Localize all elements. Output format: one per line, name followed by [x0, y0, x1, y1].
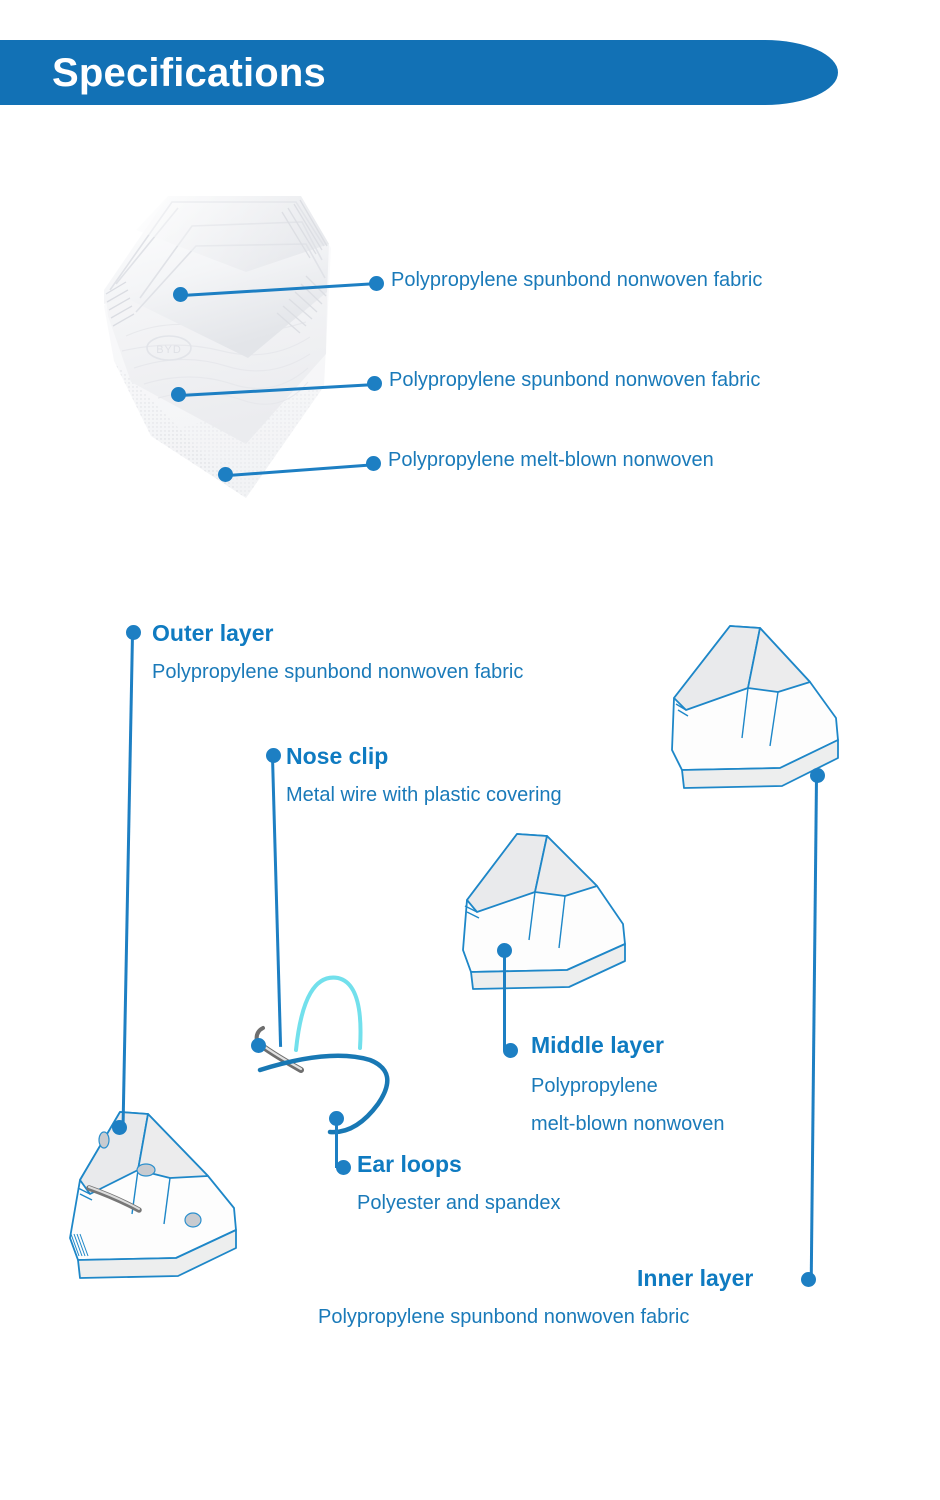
callout-outer-layer-title: Outer layer	[152, 620, 273, 647]
leader-line-ear-loops	[335, 1120, 338, 1168]
leader-dot-target-layer-2	[367, 376, 382, 391]
leader-line-middle-layer	[503, 952, 506, 1050]
specifications-page: Specifications	[0, 0, 940, 1500]
callout-outer-layer-desc: Polypropylene spunbond nonwoven fabric	[152, 661, 523, 684]
leader-dot-source-layer-3	[218, 467, 233, 482]
svg-text:BYD: BYD	[156, 344, 182, 356]
callout-nose-clip-title: Nose clip	[286, 743, 388, 770]
callout-ear-loops-title: Ear loops	[357, 1151, 462, 1178]
leader-line-outer-layer	[122, 634, 134, 1128]
callout-inner-layer-title: Inner layer	[637, 1265, 753, 1292]
callout-layer-3-text: Polypropylene melt-blown nonwoven	[388, 449, 714, 472]
folded-face-mask-photo: BYD	[96, 186, 396, 511]
leader-dot-nose-clip-bottom	[251, 1038, 266, 1053]
leader-line-inner-layer	[810, 777, 818, 1280]
leader-dot-middle-layer-bottom	[503, 1043, 518, 1058]
mask-outline-upper-right	[660, 618, 860, 793]
callout-inner-layer-desc: Polypropylene spunbond nonwoven fabric	[318, 1306, 689, 1329]
leader-line-nose-clip	[271, 757, 282, 1047]
leader-dot-outer-layer-top	[126, 625, 141, 640]
callout-middle-layer-desc-2: melt-blown nonwoven	[531, 1113, 724, 1136]
leader-dot-source-layer-1	[173, 287, 188, 302]
callout-nose-clip-desc: Metal wire with plastic covering	[286, 784, 562, 807]
leader-dot-target-layer-1	[369, 276, 384, 291]
callout-layer-2-text: Polypropylene spunbond nonwoven fabric	[389, 369, 760, 392]
mask-outline-center	[455, 828, 645, 998]
page-title: Specifications	[52, 44, 326, 102]
callout-middle-layer-title: Middle layer	[531, 1032, 664, 1059]
callout-layer-1-text: Polypropylene spunbond nonwoven fabric	[391, 269, 762, 292]
leader-dot-target-layer-3	[366, 456, 381, 471]
leader-dot-ear-loops-bottom	[336, 1160, 351, 1175]
leader-dot-inner-layer-top	[810, 768, 825, 783]
leader-dot-outer-layer-bottom	[112, 1120, 127, 1135]
ear-loop-cord-front	[300, 1035, 460, 1155]
callout-middle-layer-desc-1: Polypropylene	[531, 1075, 658, 1098]
mask-outline-lower-left	[58, 1098, 268, 1293]
leader-dot-inner-layer-bottom	[801, 1272, 816, 1287]
callout-ear-loops-desc: Polyester and spandex	[357, 1192, 560, 1215]
leader-dot-source-layer-2	[171, 387, 186, 402]
